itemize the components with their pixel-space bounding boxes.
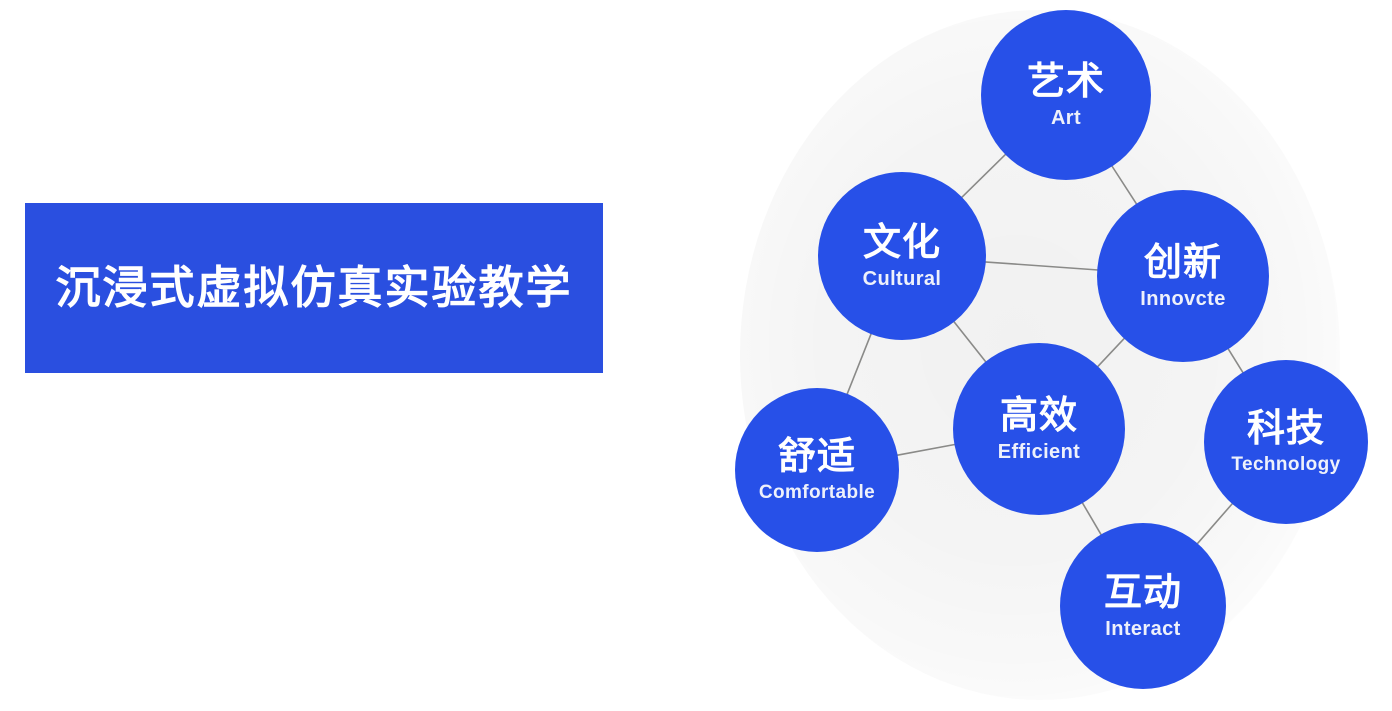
node-technology[interactable]: 科技 Technology — [1204, 360, 1368, 524]
node-cultural-label-en: Cultural — [863, 269, 942, 289]
node-cultural-label-cn: 文化 — [863, 224, 941, 262]
concept-network-diagram: 艺术 Art 文化 Cultural 创新 Innovcte 高效 Effici… — [700, 0, 1392, 711]
node-interact[interactable]: 互动 Interact — [1060, 523, 1226, 689]
node-comfortable-label-en: Comfortable — [759, 483, 875, 502]
node-innovcte-label-cn: 创新 — [1144, 244, 1222, 282]
title-banner: 沉浸式虚拟仿真实验教学 — [25, 203, 603, 373]
node-efficient-label-en: Efficient — [998, 442, 1081, 462]
node-innovcte-label-en: Innovcte — [1140, 289, 1225, 309]
node-technology-label-en: Technology — [1231, 455, 1340, 474]
node-interact-label-en: Interact — [1105, 619, 1180, 639]
node-technology-label-cn: 科技 — [1247, 410, 1325, 448]
page-title: 沉浸式虚拟仿真实验教学 — [55, 262, 572, 314]
node-innovcte[interactable]: 创新 Innovcte — [1097, 190, 1269, 362]
slide-canvas: 沉浸式虚拟仿真实验教学 艺术 Art 文化 Cultural 创新 Innovc… — [0, 0, 1392, 711]
node-efficient[interactable]: 高效 Efficient — [953, 343, 1125, 515]
node-cultural[interactable]: 文化 Cultural — [818, 172, 986, 340]
node-art-label-cn: 艺术 — [1027, 63, 1105, 101]
node-art-label-en: Art — [1051, 108, 1081, 128]
node-efficient-label-cn: 高效 — [1000, 397, 1078, 435]
node-comfortable-label-cn: 舒适 — [778, 438, 856, 476]
node-comfortable[interactable]: 舒适 Comfortable — [735, 388, 899, 552]
node-interact-label-cn: 互动 — [1104, 574, 1182, 612]
node-art[interactable]: 艺术 Art — [981, 10, 1151, 180]
